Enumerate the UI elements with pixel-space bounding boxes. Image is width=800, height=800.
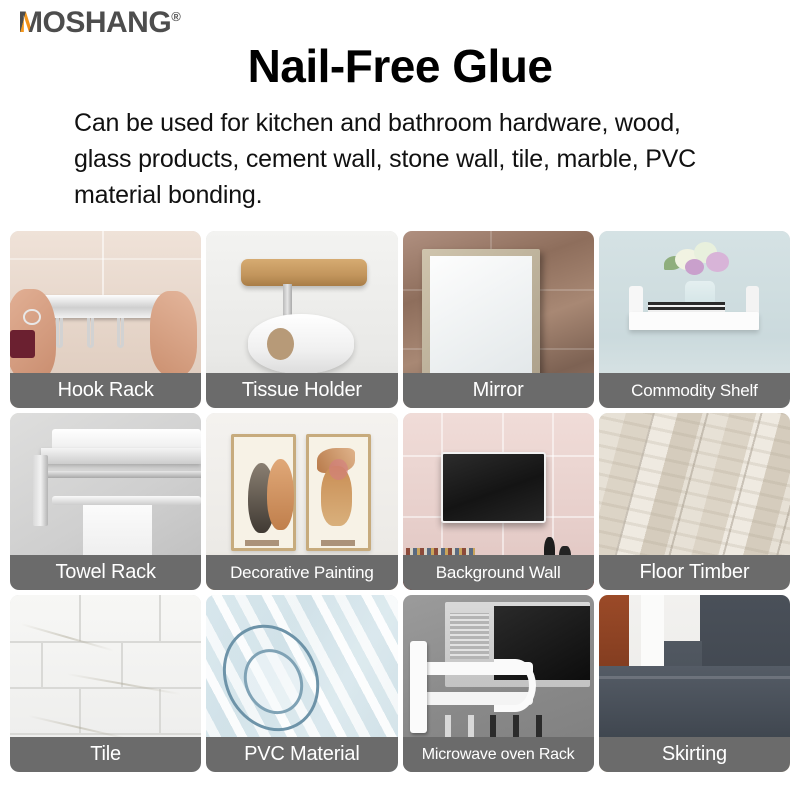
application-grid: Hook Rack Tissue Holder Mirror [10, 231, 790, 772]
tile-caption: Tile [10, 737, 201, 772]
registered-trademark-icon: ® [171, 9, 180, 24]
tile-towel-rack[interactable]: Towel Rack [10, 413, 201, 590]
brand-logo-m: M [18, 8, 43, 38]
page-title: Nail-Free Glue [0, 40, 800, 92]
tile-caption: Tissue Holder [206, 373, 397, 408]
tile-caption: Microwave oven Rack [403, 737, 594, 772]
tile-caption: PVC Material [206, 737, 397, 772]
tile-caption: Floor Timber [599, 555, 790, 590]
brand-logo: MOSHANG® [18, 8, 180, 38]
tile-microwave-rack[interactable]: Microwave oven Rack [403, 595, 594, 772]
product-infographic: MOSHANG® Nail-Free Glue Can be used for … [0, 0, 800, 800]
tile-caption: Mirror [403, 373, 594, 408]
tile-tile[interactable]: Tile [10, 595, 201, 772]
tile-caption: Skirting [599, 737, 790, 772]
tile-floor-timber[interactable]: Floor Timber [599, 413, 790, 590]
page-description: Can be used for kitchen and bathroom har… [74, 105, 734, 213]
tile-caption: Hook Rack [10, 373, 201, 408]
tile-hook-rack[interactable]: Hook Rack [10, 231, 201, 408]
tile-caption: Commodity Shelf [599, 373, 790, 408]
tile-tissue-holder[interactable]: Tissue Holder [206, 231, 397, 408]
tile-pvc-material[interactable]: PVC Material [206, 595, 397, 772]
brand-logo-text: OSHANG [43, 8, 172, 38]
tile-caption: Decorative Painting [206, 555, 397, 590]
tile-commodity-shelf[interactable]: Commodity Shelf [599, 231, 790, 408]
tile-background-wall[interactable]: Background Wall [403, 413, 594, 590]
tile-caption: Background Wall [403, 555, 594, 590]
tile-mirror[interactable]: Mirror [403, 231, 594, 408]
tile-skirting[interactable]: Skirting [599, 595, 790, 772]
tile-caption: Towel Rack [10, 555, 201, 590]
tile-decorative-painting[interactable]: Decorative Painting [206, 413, 397, 590]
